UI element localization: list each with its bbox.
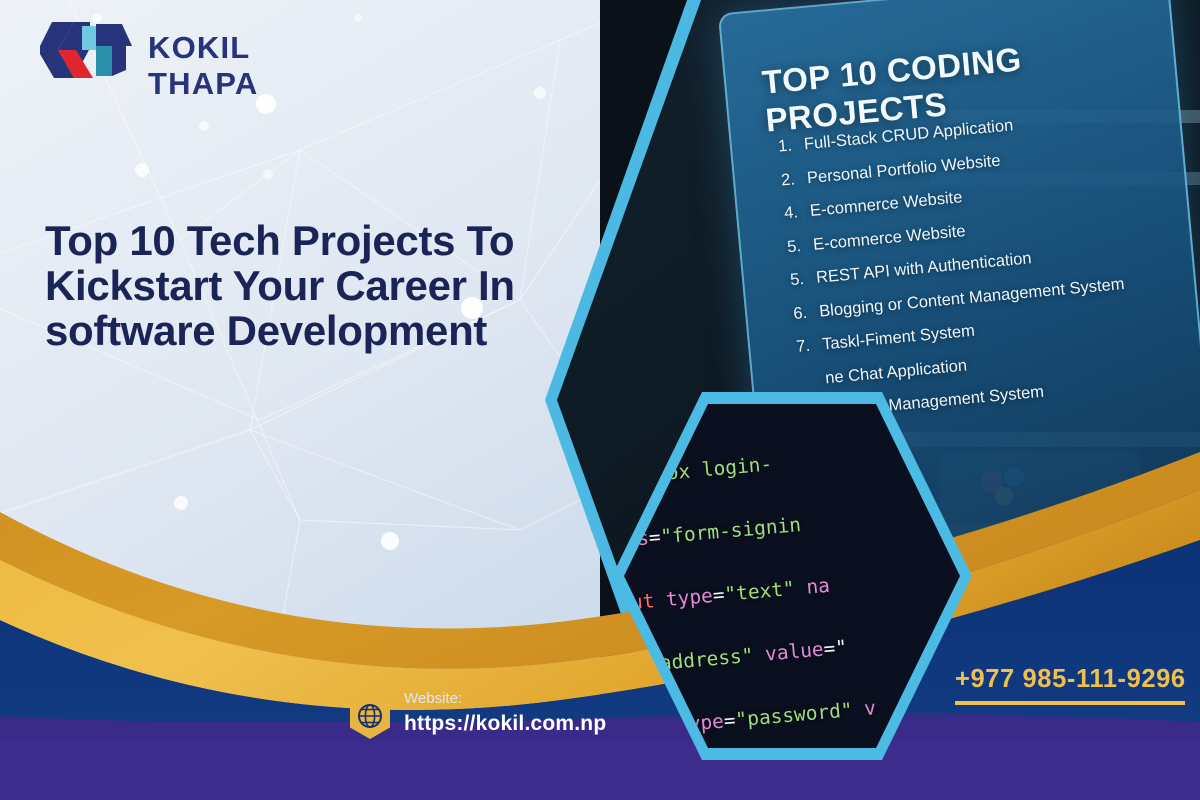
poster-canvas: TOP 10 CODING PROJECTS 1.Full-Stack CRUD… — [0, 0, 1200, 800]
website-url[interactable]: https://kokil.com.np — [404, 712, 606, 736]
phone-contact[interactable]: +977 985-111-9296 — [955, 665, 1185, 705]
brand-logo[interactable]: KOKIL THAPA — [38, 18, 368, 82]
globe-icon — [348, 692, 392, 740]
code-line: Email address" value=" — [624, 617, 960, 685]
page-title: Top 10 Tech Projects To Kickstart Your C… — [45, 219, 565, 354]
phone-number[interactable]: +977 985-111-9296 — [955, 665, 1185, 694]
website-contact[interactable]: Website: https://kokil.com.np — [348, 690, 648, 752]
brand-name: KOKIL THAPA — [148, 30, 368, 102]
code-line: <input type="text" na — [624, 555, 960, 623]
code-line: class="form-signin — [624, 492, 960, 560]
kt-monogram-icon — [38, 20, 138, 80]
phone-underline — [955, 701, 1185, 705]
website-label: Website: — [404, 690, 462, 707]
